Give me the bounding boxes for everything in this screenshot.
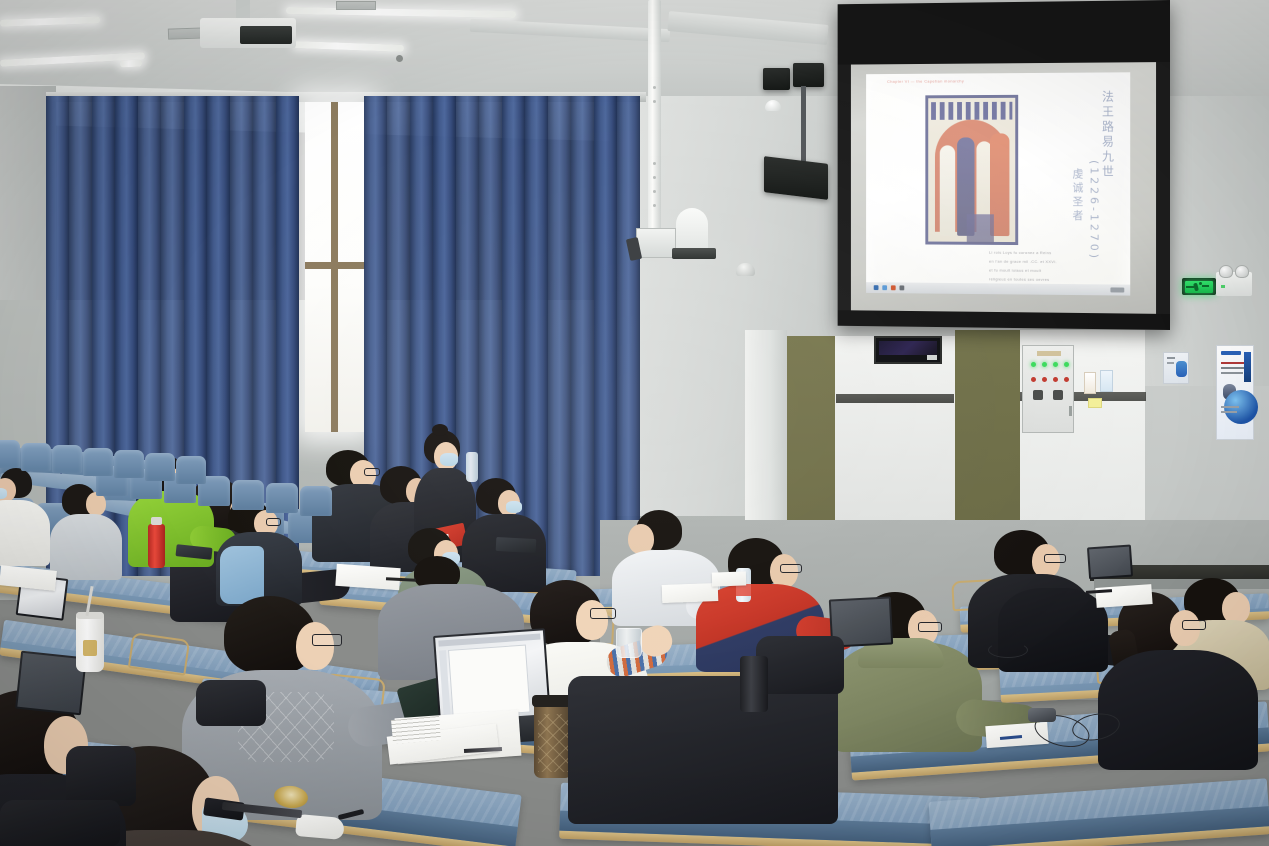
projector-bracket [636, 228, 676, 258]
manuscript-marginal-image [967, 214, 994, 244]
dome-camera [736, 263, 755, 276]
eyeglasses[interactable] [1044, 554, 1066, 563]
emergency-lamp [1235, 265, 1249, 278]
emergency-lamp [1219, 265, 1233, 278]
bottle-red[interactable] [148, 524, 165, 568]
poster-text-line [1221, 411, 1237, 413]
presentation-slide: Chapter VI — the Capetian monarchy Li ro… [866, 72, 1130, 295]
bottle-cap [151, 517, 162, 525]
lecture-hall-photo: Chapter VI — the Capetian monarchy Li ro… [0, 0, 1269, 846]
panel-indicator-off [1031, 377, 1036, 382]
panel-indicator-on [1053, 362, 1058, 367]
poster-title [1221, 351, 1241, 355]
seat-back-row[interactable] [300, 486, 332, 516]
safety-notice [1088, 398, 1102, 408]
dome-camera [765, 100, 781, 111]
torso [1098, 650, 1258, 770]
eyeglasses[interactable] [266, 518, 281, 526]
taskbar-icon[interactable] [891, 285, 896, 290]
rear-projector-lens [240, 26, 292, 44]
laptop[interactable] [1087, 545, 1133, 580]
seat-back-row[interactable] [52, 445, 82, 473]
seat-back-row[interactable] [83, 448, 113, 476]
slide-body-line: Li rois Loys fu coronez a Reins [989, 250, 1051, 255]
seat-back-row[interactable] [232, 480, 264, 510]
travel-mug-brown[interactable] [534, 700, 572, 778]
olive-wall-panel [787, 336, 835, 536]
taskbar-clock[interactable] [1110, 287, 1124, 292]
emergency-light-led [1221, 285, 1225, 288]
manuscript-crenellation [931, 102, 1012, 120]
panel-indicator-on [1064, 362, 1069, 367]
speaker-stem [801, 86, 806, 170]
poster-text-line [1167, 357, 1175, 359]
baseboard [836, 394, 954, 403]
screen-housing [838, 0, 1170, 65]
windows-taskbar[interactable] [866, 282, 1130, 295]
jacket-shoulder [220, 546, 264, 604]
manuscript-figure [940, 145, 955, 235]
curtain-pleat [548, 96, 571, 576]
tumbler-lid [76, 612, 104, 619]
seat-back-row[interactable] [145, 453, 175, 481]
bag-dark[interactable] [0, 800, 120, 846]
panel-switch[interactable] [1033, 390, 1043, 400]
head [576, 600, 608, 640]
monitor-screen [879, 341, 937, 355]
tissue[interactable] [295, 814, 345, 840]
poster-graphic [1176, 361, 1187, 377]
cable [988, 642, 1028, 658]
curtain-pleat [617, 96, 640, 576]
wall-speaker [793, 63, 824, 87]
safety-notice [1084, 372, 1096, 394]
curtain-pleat [571, 96, 594, 576]
tablet[interactable] [496, 537, 537, 553]
information-poster [1216, 345, 1254, 440]
monitor-label [927, 355, 937, 360]
projector-pole-mount [648, 0, 661, 236]
projector-lens [672, 248, 716, 259]
eyeglasses[interactable] [1182, 620, 1206, 630]
eyeglasses[interactable] [364, 468, 380, 476]
emergency-light [1216, 272, 1252, 296]
torso [0, 500, 50, 566]
eyeglasses[interactable] [780, 564, 802, 573]
tumbler-logo [83, 640, 97, 656]
ceiling-projector [676, 208, 708, 252]
taskbar-icon[interactable] [882, 285, 887, 290]
head [296, 622, 334, 670]
slide-caption-chinese-subtitle: 虔诚圣者 [1069, 168, 1085, 224]
slide-body-line: et fu moult loiaus et moult [989, 268, 1041, 273]
wall-speaker [763, 68, 790, 90]
face-mask [440, 453, 458, 466]
notice-sheet [1163, 352, 1189, 384]
poster-text-line [1167, 362, 1174, 364]
seat-back-row[interactable] [176, 456, 206, 484]
laptop-screen-display [17, 653, 84, 713]
slide-caption-chinese: 法王路易九世 [1099, 90, 1117, 180]
slide-body-line: religieus en toutes ses oevres [989, 276, 1049, 281]
seat-back-row[interactable] [266, 483, 298, 513]
jacket-draped[interactable] [568, 676, 838, 824]
manuscript-illumination [925, 95, 1018, 245]
slide-body-line: en l'an de grace mil .CC. et XXVI. [989, 259, 1057, 264]
hair-bun [432, 424, 448, 436]
panel-switch[interactable] [1053, 390, 1063, 400]
mug-pattern [538, 714, 568, 772]
taskbar-icon[interactable] [874, 285, 879, 290]
panel-indicator-on [1031, 362, 1036, 367]
panel-indicator-on [1042, 362, 1047, 367]
curtain-pleat [594, 96, 617, 576]
ceiling-light-strip [120, 59, 142, 67]
safety-notice [1100, 370, 1113, 392]
slide-header-text: Chapter VI — the Capetian monarchy [887, 78, 964, 83]
panel-label [1037, 351, 1061, 356]
cup-clear[interactable] [616, 628, 642, 658]
thermos-black[interactable] [740, 656, 768, 712]
projector-arm [236, 0, 250, 20]
screen-surface: Chapter VI — the Capetian monarchy Li ro… [851, 62, 1156, 314]
poster-sidebar [1244, 352, 1251, 382]
tumbler-white[interactable] [76, 612, 104, 672]
printed-page [391, 716, 441, 744]
seat-back-row[interactable] [114, 450, 144, 478]
notebook[interactable] [662, 583, 719, 603]
poster-text-line [1221, 372, 1243, 374]
notebook[interactable] [1095, 584, 1152, 608]
panel-door-handle[interactable] [1069, 406, 1072, 416]
bottle-label [736, 584, 751, 596]
notebook[interactable] [712, 571, 746, 586]
poster-text-line [1221, 406, 1239, 408]
panel-indicator-off [1042, 377, 1047, 382]
bag-dark[interactable] [196, 680, 266, 726]
projection-screen[interactable]: Chapter VI — the Capetian monarchy Li ro… [838, 0, 1170, 330]
panel-indicator-off [1053, 377, 1058, 382]
laptop-screen-display [1089, 547, 1131, 578]
torso [998, 588, 1108, 672]
confidence-monitor[interactable] [874, 336, 942, 364]
curtain-pleat [525, 96, 548, 576]
bag-dark[interactable] [756, 636, 844, 694]
bottle-water[interactable] [466, 452, 478, 482]
face-mask [506, 501, 522, 513]
seat-back-row[interactable] [0, 440, 20, 468]
earphone-bud[interactable] [1028, 708, 1056, 722]
electrical-control-panel[interactable] [1022, 345, 1074, 433]
wall-panel-white [835, 336, 955, 532]
seat-back-row[interactable] [21, 443, 51, 471]
laptop-doc-page [448, 645, 531, 718]
exit-running-man-icon [1185, 281, 1213, 293]
taskbar-icon[interactable] [899, 285, 904, 290]
torso [50, 514, 122, 580]
laptop-screen-display [435, 630, 549, 723]
wall-speaker [764, 156, 828, 200]
backpack[interactable] [66, 746, 136, 806]
desk-row-front [928, 778, 1269, 846]
ceiling-sprinkler [396, 55, 403, 62]
slide-caption-chinese-dates: (1226-1270) [1088, 160, 1101, 261]
eyeglasses[interactable] [312, 634, 342, 646]
eyeglasses[interactable] [590, 608, 616, 619]
exit-sign [1182, 278, 1216, 295]
ceiling-vent [336, 1, 376, 10]
eyeglasses[interactable] [918, 622, 942, 632]
panel-indicator-off [1064, 377, 1069, 382]
